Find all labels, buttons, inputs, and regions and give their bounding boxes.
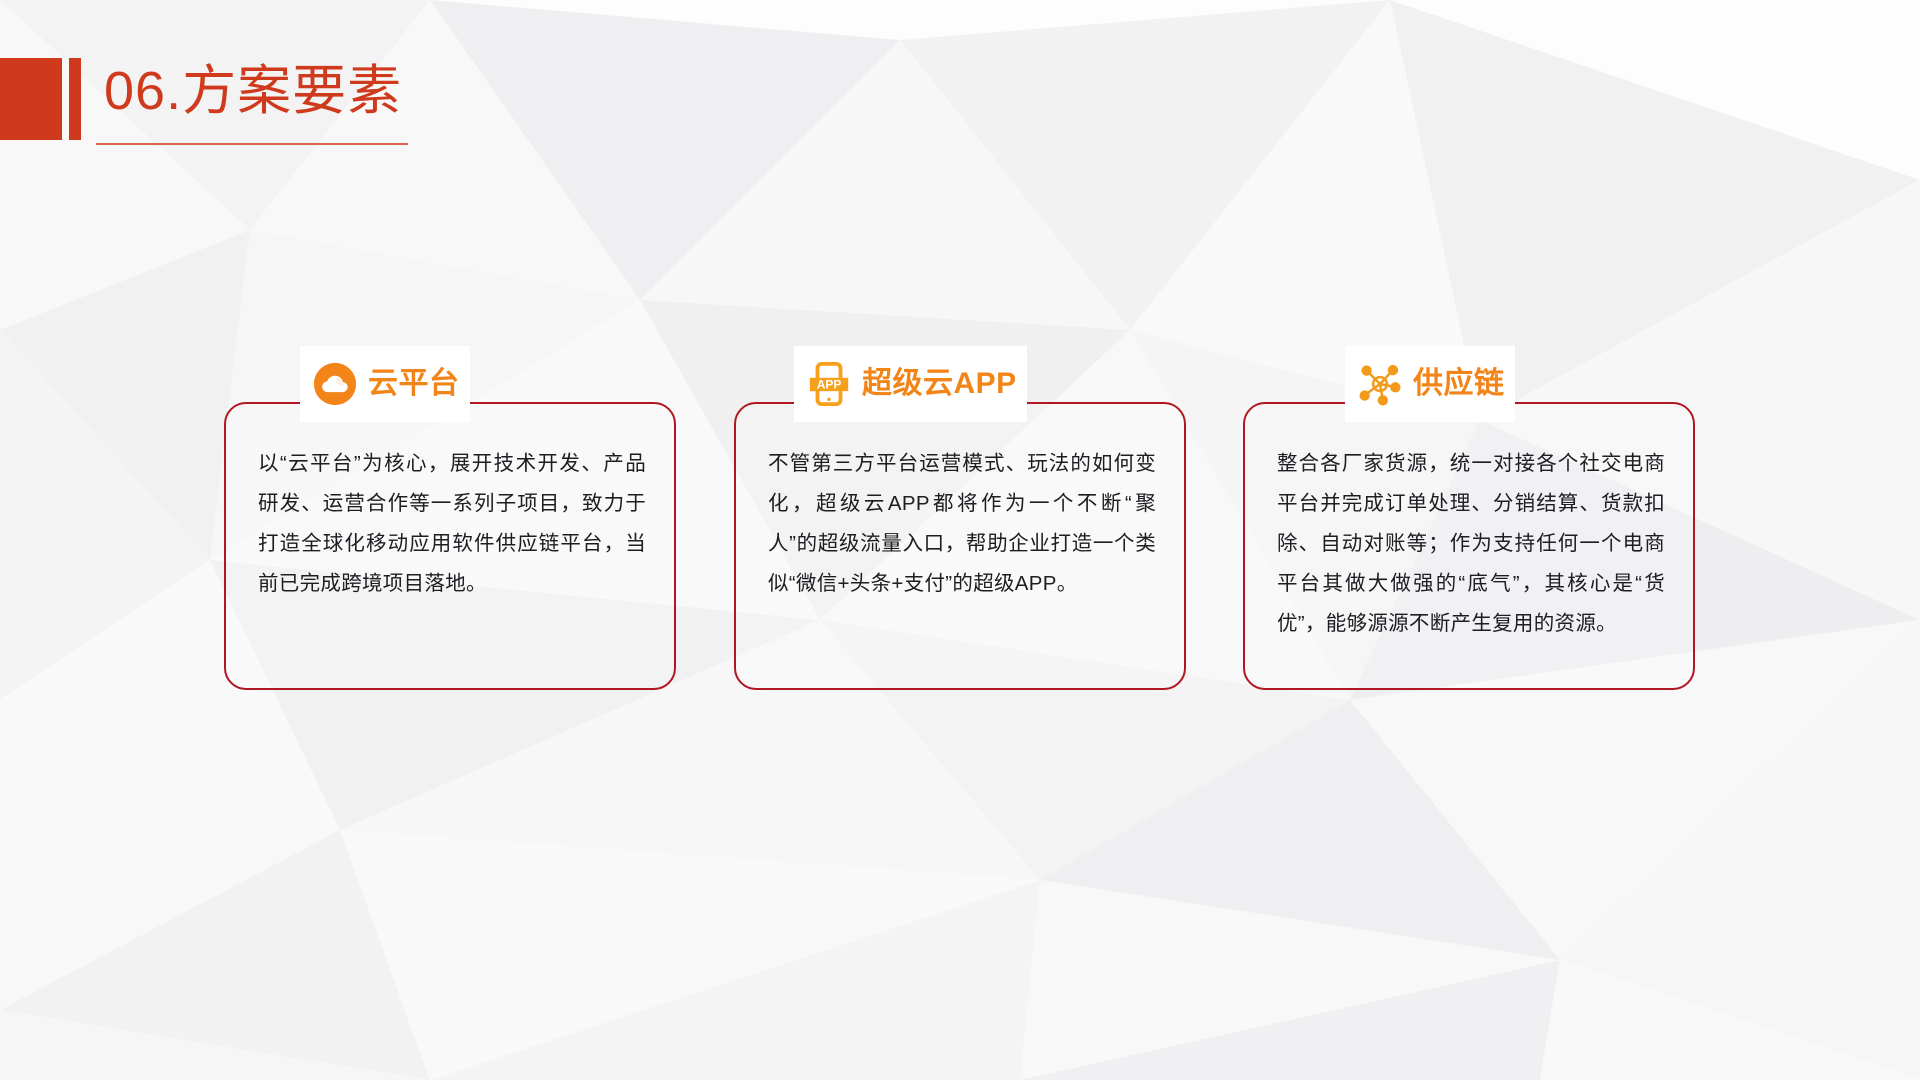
feature-card-cloud-platform[interactable]: 云平台 以“云平台”为核心，展开技术开发、产品研发、运营合作等一系列子项目，致力… — [224, 402, 676, 690]
card-body-text: 整合各厂家货源，统一对接各个社交电商平台并完成订单处理、分销结算、货款扣除、自动… — [1277, 444, 1665, 644]
card-header-badge: 云平台 — [300, 346, 470, 422]
slide-header: 06.方案要素 — [0, 0, 620, 200]
card-body-text: 不管第三方平台运营模式、玩法的如何变化，超级云APP都将作为一个不断“聚人”的超… — [768, 444, 1156, 604]
cloud-icon — [312, 361, 358, 407]
card-title-label: 供应链 — [1413, 369, 1505, 399]
card-title-label: 云平台 — [368, 369, 460, 399]
feature-card-supply-chain[interactable]: 供应链 整合各厂家货源，统一对接各个社交电商平台并完成订单处理、分销结算、货款扣… — [1243, 402, 1695, 690]
mobile-app-icon: APP — [806, 361, 852, 407]
card-body-text: 以“云平台”为核心，展开技术开发、产品研发、运营合作等一系列子项目，致力于打造全… — [258, 444, 646, 604]
title-accent-bar — [69, 58, 81, 140]
svg-text:APP: APP — [817, 377, 842, 391]
card-title-label: 超级云APP — [862, 369, 1017, 399]
title-underline — [96, 143, 408, 145]
card-header-badge: APP 超级云APP — [794, 346, 1027, 422]
supply-chain-network-icon — [1357, 361, 1403, 407]
page-title: 06.方案要素 — [104, 52, 402, 130]
card-header-badge: 供应链 — [1345, 346, 1515, 422]
title-accent-block — [0, 58, 62, 140]
feature-card-super-cloud-app[interactable]: APP 超级云APP 不管第三方平台运营模式、玩法的如何变化，超级云APP都将作… — [734, 402, 1186, 690]
